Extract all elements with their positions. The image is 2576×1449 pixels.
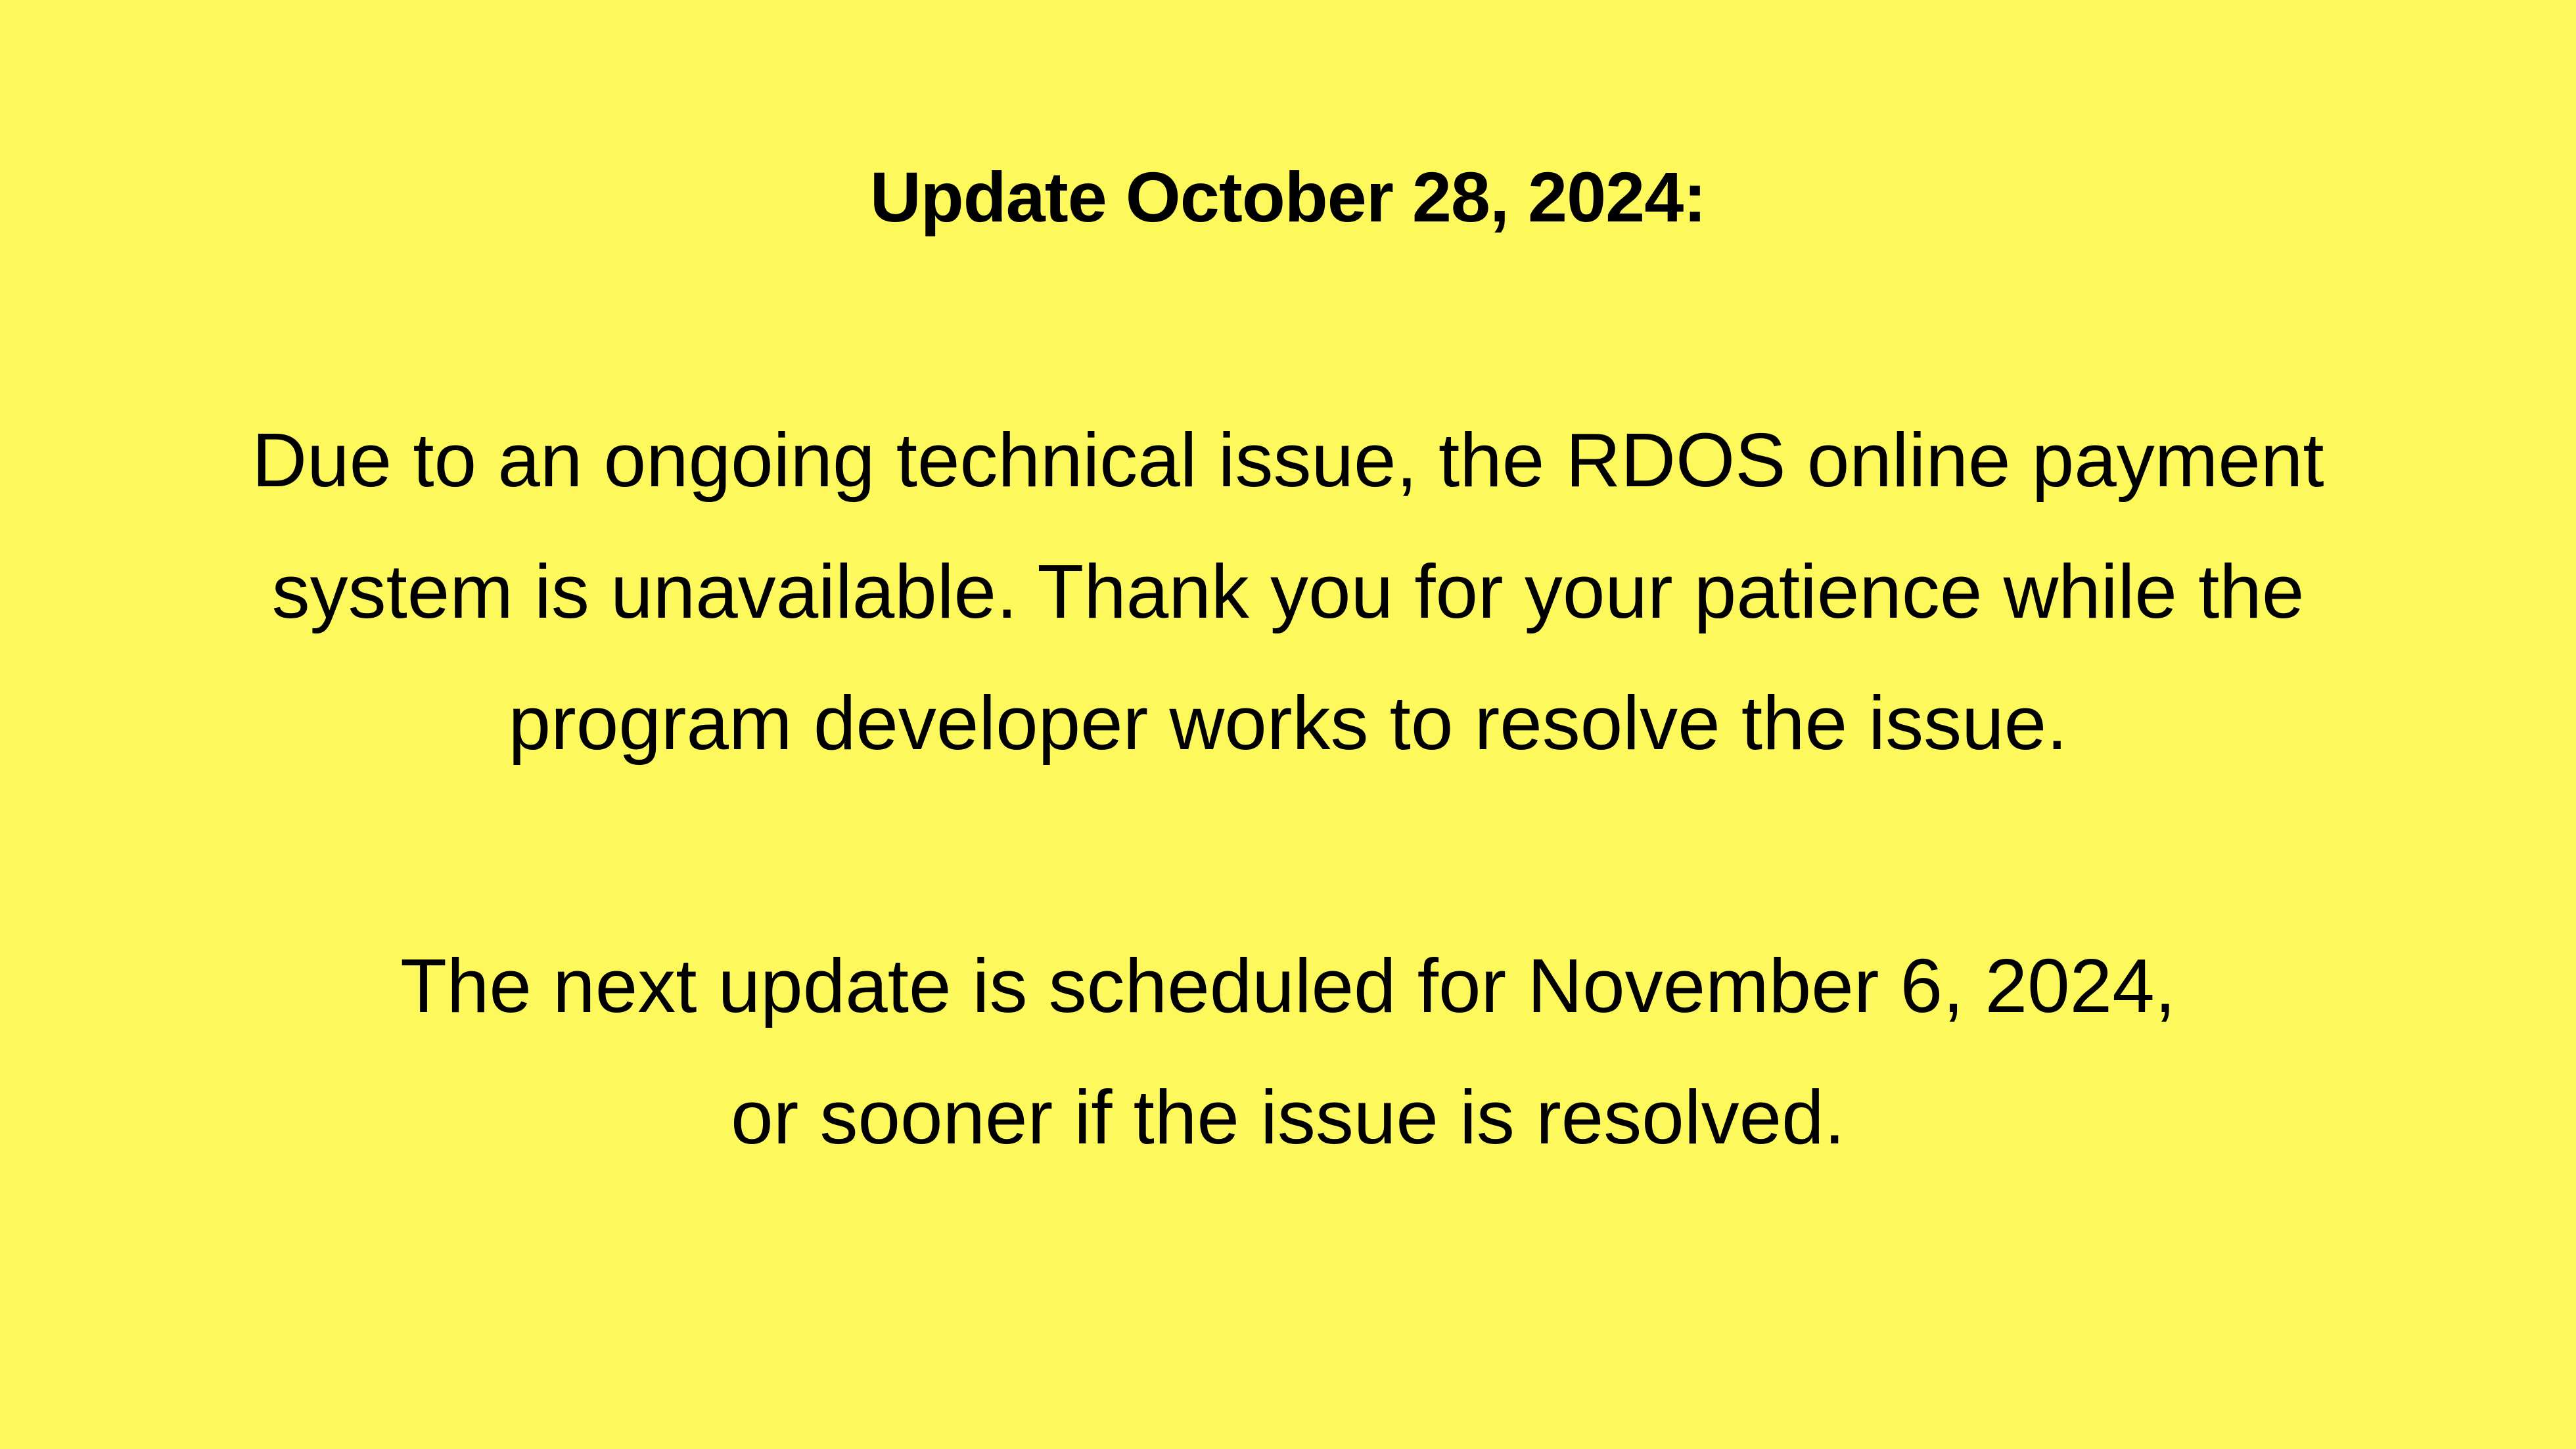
top-spacer [99,0,2477,131]
paragraph-spacer [99,789,2477,920]
notice-paragraph-outage-explanation: Due to an ongoing technical issue, the R… [99,394,2477,789]
heading-body-spacer [99,263,2477,394]
notice-line: system is unavailable. Thank you for you… [99,526,2477,657]
notice-line: or sooner if the issue is resolved. [99,1051,2477,1183]
notice-paragraph-next-update: The next update is scheduled for Novembe… [99,920,2477,1183]
notice-line: Due to an ongoing technical issue, the R… [99,394,2477,526]
notice-content: Update October 28, 2024: Due to an ongoi… [0,0,2576,1183]
notice-board: Update October 28, 2024: Due to an ongoi… [0,0,2576,1449]
notice-line: The next update is scheduled for Novembe… [99,920,2477,1051]
notice-line: program developer works to resolve the i… [99,657,2477,789]
notice-heading: Update October 28, 2024: [99,131,2477,263]
